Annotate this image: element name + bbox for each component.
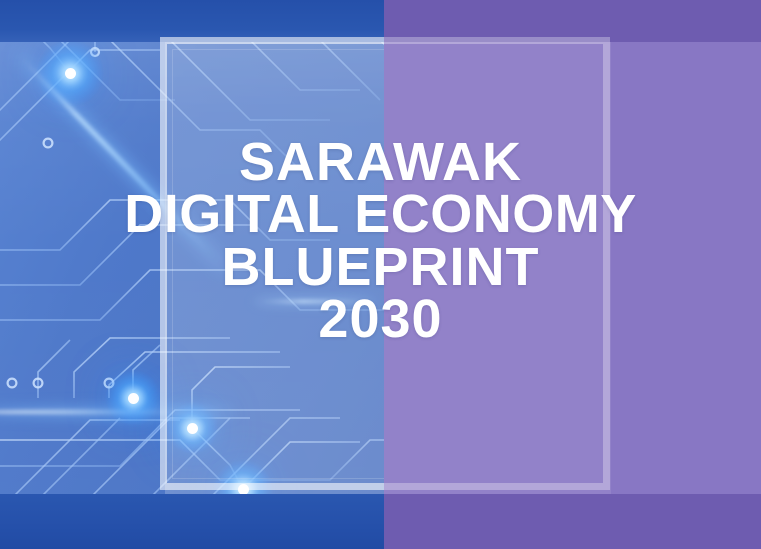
purple-bottom-band [384, 494, 761, 549]
poster-canvas: SARAWAK DIGITAL ECONOMY BLUEPRINT 2030 [0, 0, 761, 549]
title-line-4-year: 2030 [0, 293, 761, 345]
title-line-2: DIGITAL ECONOMY [0, 188, 761, 240]
purple-top-band [384, 0, 761, 42]
poster-title: SARAWAK DIGITAL ECONOMY BLUEPRINT 2030 [0, 136, 761, 346]
title-line-3: BLUEPRINT [0, 241, 761, 293]
title-line-1: SARAWAK [0, 136, 761, 188]
